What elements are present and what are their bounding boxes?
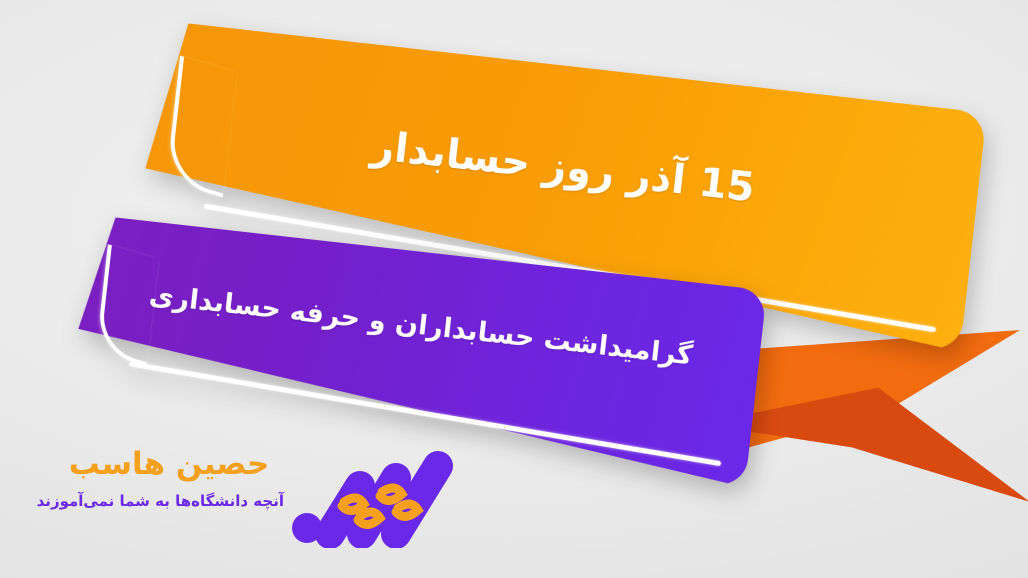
brand-logo: حصین هاسب آنچه دانشگاه‌ها به شما نمی‌آمو… <box>42 442 462 552</box>
logo-wordmark: حصین هاسب <box>54 446 284 482</box>
logo-tagline: آنچه دانشگاه‌ها به شما نمی‌آموزند <box>54 492 284 510</box>
hasb-diagonal-bars-icon <box>292 442 462 548</box>
poster-canvas: 15 آذر روز حسابدار گرامیداشت حسابداران و… <box>0 0 1028 578</box>
